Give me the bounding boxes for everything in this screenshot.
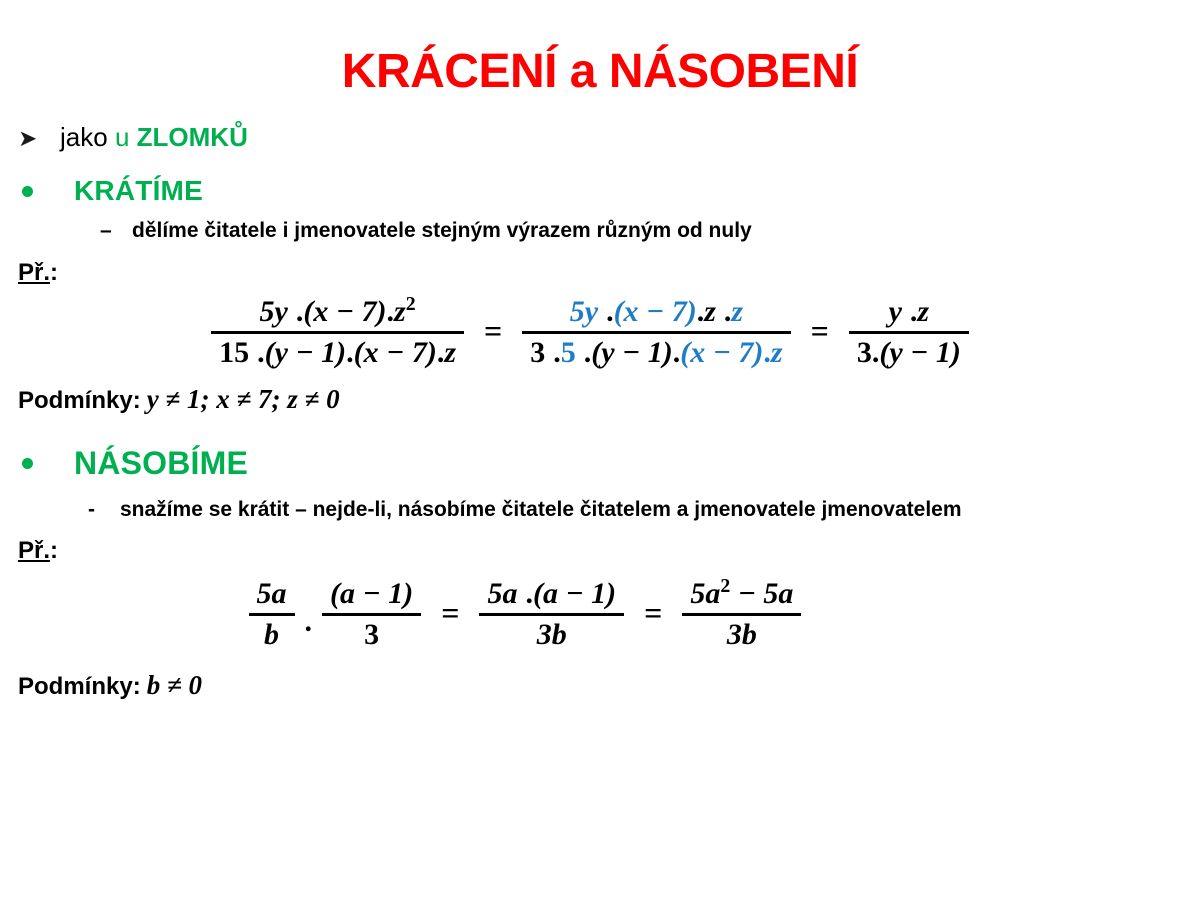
sub-bullet-kratime-text: dělíme čitatele i jmenovatele stejným vý… <box>132 217 752 245</box>
eq1-t2-den-a: 3 <box>530 336 545 369</box>
eq2-equals-2: = <box>644 595 662 634</box>
eq1-t2-denominator: 3 .5 .(y − 1).(x − 7).z <box>522 334 790 372</box>
eq1-t1-numerator: 5y .(x − 7).z2 <box>252 293 424 331</box>
slide-canvas: { "slide": { "title": "KRÁCENÍ a NÁSOBEN… <box>0 0 1200 904</box>
eq2-t2-denominator: 3 <box>356 616 387 654</box>
page-title: KRÁCENÍ a NÁSOBENÍ <box>0 0 1200 96</box>
arrow-bullet-icon: ➤ <box>18 127 60 150</box>
eq2-equals-1: = <box>441 595 459 634</box>
eq1-t1-denominator: 15 .(y − 1).(x − 7).z <box>211 334 464 372</box>
conditions-one-label: Podmínky: <box>18 387 141 414</box>
example-label-one-underlined: Př. <box>18 259 50 286</box>
conditions-one: Podmínky:y ≠ 1; x ≠ 7; z ≠ 0 <box>0 384 1200 415</box>
conditions-two: Podmínky:b ≠ 0 <box>0 670 1200 701</box>
eq2-t4-numerator: 5a2 − 5a <box>682 575 801 613</box>
equation-one-term-1: 5y .(x − 7).z2 15 .(y − 1).(x − 7).z <box>211 293 464 372</box>
eq1-t2-numerator: 5y .(x − 7).z .z <box>562 293 751 331</box>
eq1-t1-den-dot1: . <box>257 336 265 369</box>
eq1-equals-1: = <box>484 313 502 352</box>
eq1-t2-num-dot1: . <box>606 295 614 328</box>
eq1-t1-num-dot2: . <box>387 295 395 328</box>
intro-text-plain: jako <box>60 122 108 152</box>
example-label-one-colon: : <box>50 259 58 286</box>
eq2-t3-denominator: 3b <box>529 616 575 654</box>
section-heading-kratime-row: KRÁTÍME <box>0 175 1200 207</box>
eq2-t4-num-b: − 5a <box>730 577 793 610</box>
intro-bullet-row: ➤ jako u ZLOMKŮ <box>0 122 1200 153</box>
eq1-t2-den-e: z <box>771 336 783 369</box>
eq2-t3-num-dot: . <box>525 577 533 610</box>
section-heading-nasobime: NÁSOBÍME <box>74 445 248 482</box>
eq2-t3-den: 3b <box>537 618 567 651</box>
eq1-t3-den-b: (y − 1) <box>879 336 960 369</box>
eq1-t1-den-a: 15 <box>219 336 249 369</box>
eq1-t2-den-d: (x − 7) <box>680 336 763 369</box>
equation-two-term-2: (a − 1) 3 <box>322 575 421 654</box>
equation-one-term-3: y .z 3.(y − 1) <box>849 293 969 372</box>
equation-two: 5a b . (a − 1) 3 = 5a .(a − 1) 3b = 5a2 … <box>0 575 1200 654</box>
equation-one-term-2: 5y .(x − 7).z .z 3 .5 .(y − 1).(x − 7).z <box>522 293 790 372</box>
equation-two-term-4: 5a2 − 5a 3b <box>682 575 801 654</box>
intro-text-green-bold: ZLOMKŮ <box>137 122 248 152</box>
eq1-t3-numerator: y .z <box>881 293 938 331</box>
eq1-equals-2: = <box>811 313 829 352</box>
eq1-t3-den-a: 3. <box>857 336 880 369</box>
eq1-t1-num-exp: 2 <box>406 293 416 315</box>
eq2-t1-den: b <box>264 618 279 651</box>
eq1-t2-den-b: 5 <box>561 336 576 369</box>
sub-bullet-kratime-row: – dělíme čitatele i jmenovatele stejným … <box>0 217 1200 245</box>
eq2-t2-num: (a − 1) <box>330 577 413 610</box>
eq1-t1-den-b: (y − 1) <box>265 336 346 369</box>
example-label-one: Př.: <box>0 259 1200 287</box>
eq1-t1-den-c: (x − 7) <box>354 336 437 369</box>
eq1-t2-num-c: z <box>704 295 716 328</box>
eq2-t3-numerator: 5a .(a − 1) <box>479 575 624 613</box>
eq1-t3-num-a: y <box>889 295 902 328</box>
example-label-two-colon: : <box>50 537 58 564</box>
eq2-t2-den: 3 <box>364 618 379 651</box>
equation-two-term-1: 5a b <box>249 575 295 654</box>
eq2-t4-num-exp: 2 <box>720 575 730 597</box>
eq1-t1-den-d: z <box>444 336 456 369</box>
sub-bullet-nasobime-row: - snažíme se krátit – nejde-li, násobíme… <box>0 496 1200 524</box>
eq2-t4-denominator: 3b <box>719 616 765 654</box>
intro-text: jako u ZLOMKŮ <box>60 122 248 153</box>
eq2-t1-denominator: b <box>256 616 287 654</box>
eq2-t4-den: 3b <box>727 618 757 651</box>
eq1-t3-num-b: z <box>917 295 929 328</box>
dash-bullet-icon: – <box>100 217 132 244</box>
eq1-t3-denominator: 3.(y − 1) <box>849 334 969 372</box>
eq1-t2-num-a: 5y <box>570 295 598 328</box>
eq1-t1-den-dot2: . <box>346 336 354 369</box>
round-bullet-icon <box>14 186 74 197</box>
eq2-t2-numerator: (a − 1) <box>322 575 421 613</box>
example-label-two: Př.: <box>0 537 1200 565</box>
eq1-t2-num-b: (x − 7) <box>614 295 697 328</box>
eq1-t2-den-dot4: . <box>763 336 771 369</box>
example-label-two-underlined: Př. <box>18 537 50 564</box>
eq2-t1-numerator: 5a <box>249 575 295 613</box>
conditions-two-label: Podmínky: <box>18 673 141 700</box>
eq2-t3-num-b: (a − 1) <box>533 577 616 610</box>
eq2-t3-num-a: 5a <box>487 577 517 610</box>
eq2-t1-num: 5a <box>257 577 287 610</box>
eq1-t2-den-c: (y − 1) <box>591 336 672 369</box>
equation-two-term-3: 5a .(a − 1) 3b <box>479 575 624 654</box>
section-heading-kratime: KRÁTÍME <box>74 175 203 207</box>
eq1-t2-num-d: z <box>731 295 743 328</box>
equation-one: 5y .(x − 7).z2 15 .(y − 1).(x − 7).z = 5… <box>0 293 1200 372</box>
intro-text-green-regular: u <box>115 122 129 152</box>
eq1-t2-den-dot1: . <box>553 336 561 369</box>
conditions-two-math: b ≠ 0 <box>147 670 202 700</box>
dash-bullet-icon: - <box>88 496 120 523</box>
eq1-t1-num-b: (x − 7) <box>303 295 386 328</box>
eq2-t4-num-a: 5a <box>690 577 720 610</box>
eq2-multiplication-dot: . <box>305 591 313 639</box>
round-bullet-icon <box>14 458 74 469</box>
sub-bullet-nasobime-text: snažíme se krátit – nejde-li, násobíme č… <box>120 496 962 524</box>
eq1-t1-num-a: 5y <box>260 295 288 328</box>
conditions-one-math: y ≠ 1; x ≠ 7; z ≠ 0 <box>147 384 340 414</box>
section-heading-nasobime-row: NÁSOBÍME <box>0 445 1200 482</box>
eq1-t1-num-c: z <box>394 295 406 328</box>
